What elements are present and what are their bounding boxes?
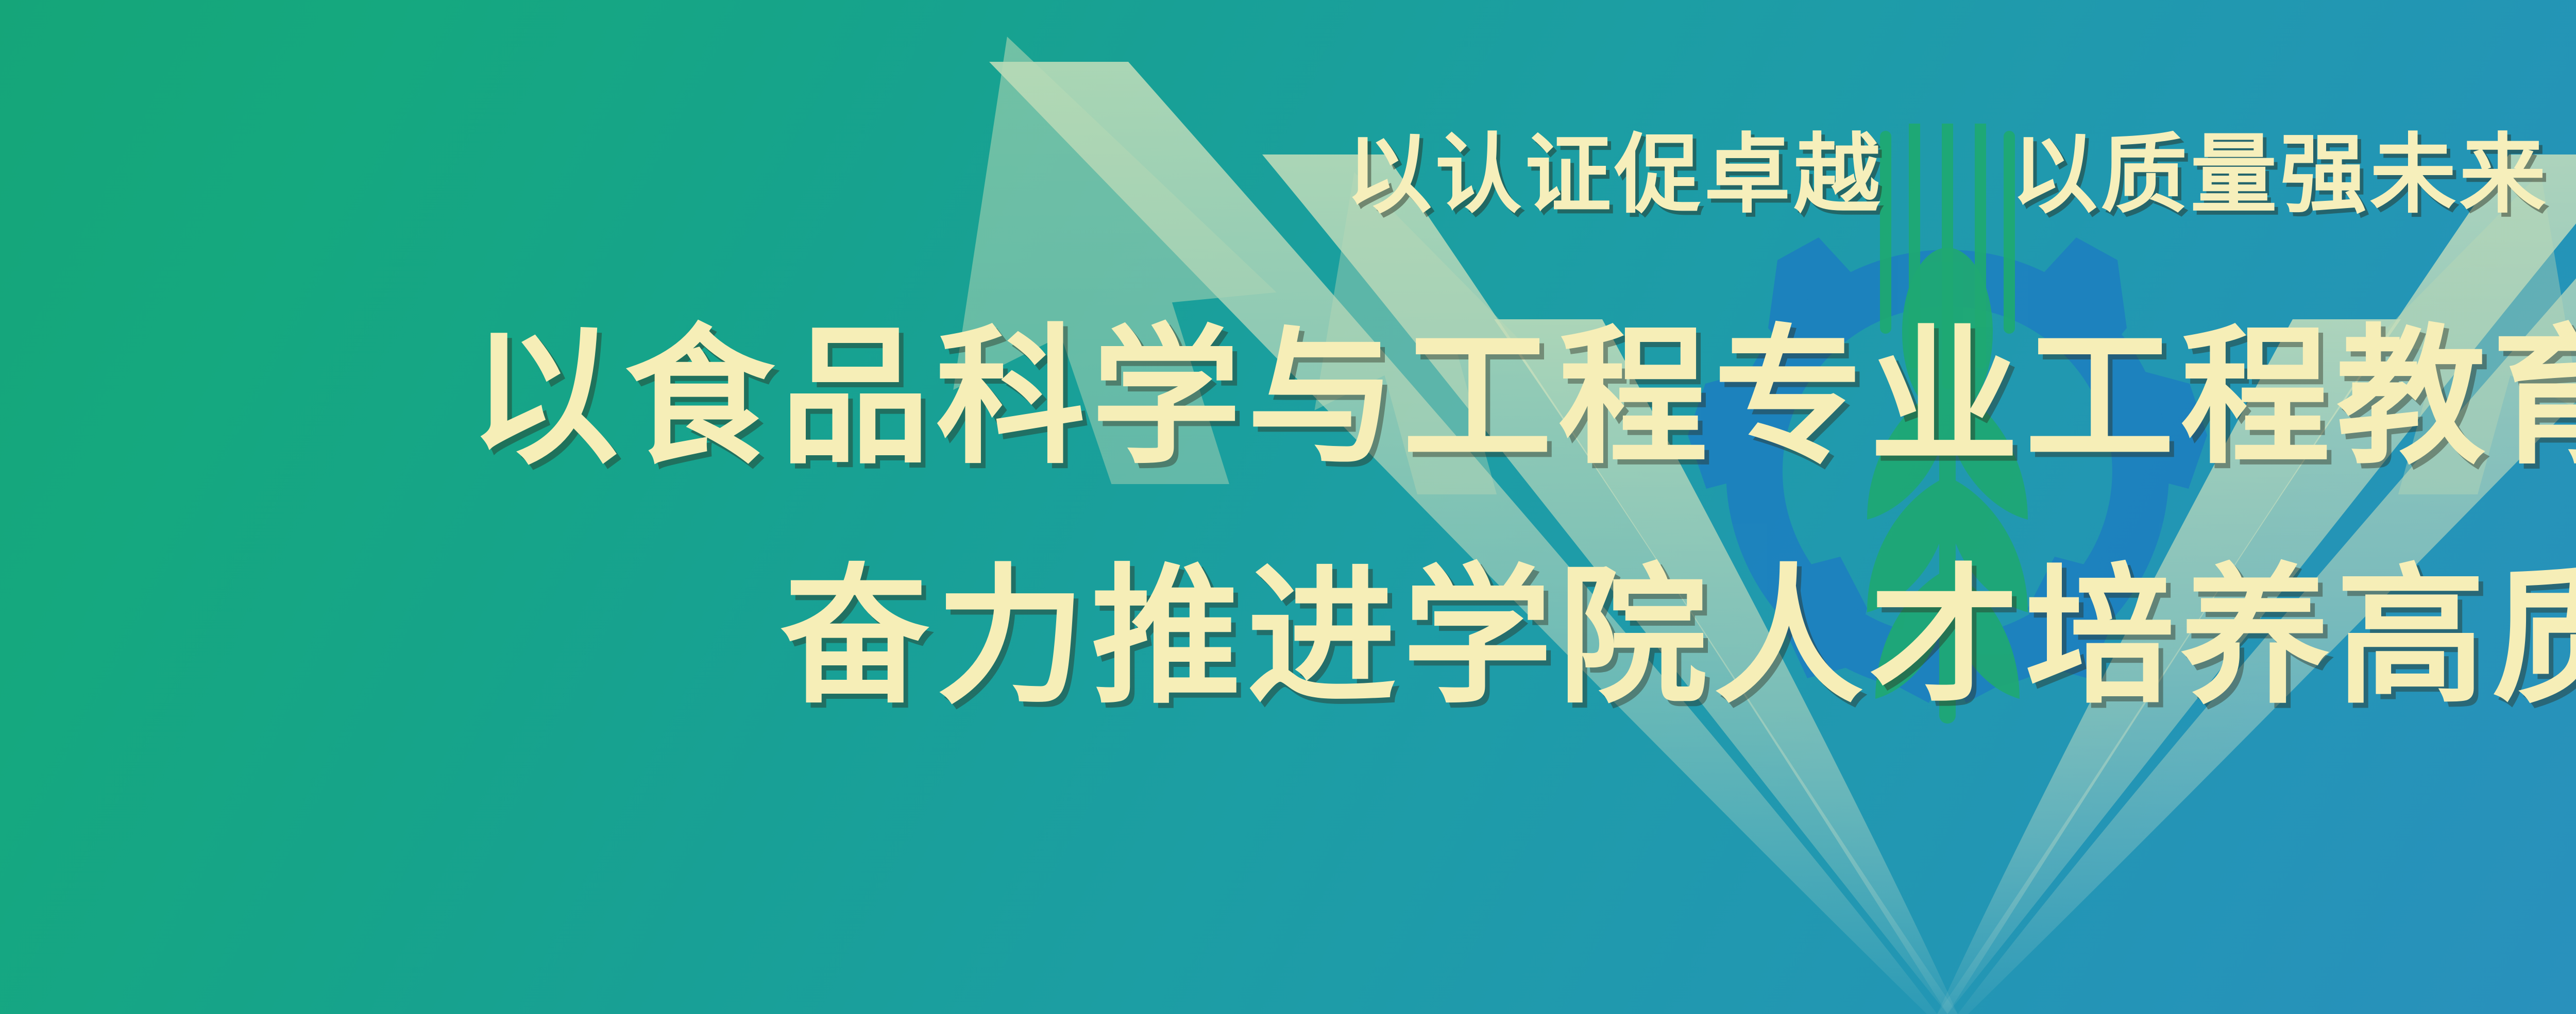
tagline-left: 以认证促卓越 (1346, 131, 1884, 218)
tagline: 以认证促卓越 以质量强未来 (0, 131, 2576, 218)
tagline-right: 以质量强未来 (2011, 131, 2549, 218)
promo-banner: 以认证促卓越 以质量强未来 以食品科学与工程专业工程教育认证为契机 奋力推进学院… (0, 0, 2576, 1014)
headline-line-1-text: 以食品科学与工程专业工程教育认证为契机 (469, 324, 2576, 474)
headline-line-2-text: 奋力推进学院人才培养高质量发展 (781, 564, 2576, 713)
headline-line-2: 奋力推进学院人才培养高质量发展 (0, 564, 2576, 713)
headline-line-1: 以食品科学与工程专业工程教育认证为契机 (0, 324, 2576, 474)
